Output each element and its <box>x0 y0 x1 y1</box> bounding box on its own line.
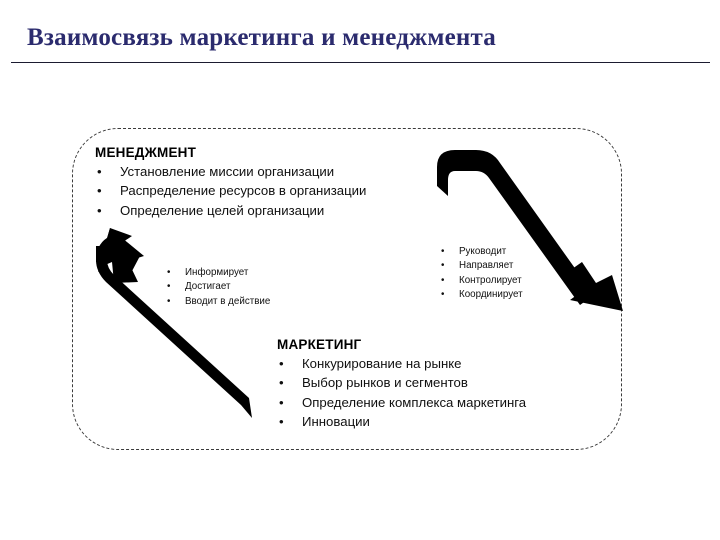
list-item: •Определение комплекса маркетинга <box>277 393 526 412</box>
list-item-label: Инновации <box>302 414 370 429</box>
bullet-icon: • <box>97 162 102 181</box>
marketing-bullet-list: •Конкурирование на рынке •Выбор рынков и… <box>277 354 526 432</box>
list-item: •Выбор рынков и сегментов <box>277 373 526 392</box>
list-item-label: Вводит в действие <box>185 296 270 307</box>
list-item: •Контролирует <box>440 274 523 288</box>
list-item-label: Достигает <box>185 281 230 292</box>
bullet-icon: • <box>97 201 102 220</box>
list-item: •Инновации <box>277 412 526 431</box>
downward-flow-block: •Руководит •Направляет •Контролирует •Ко… <box>440 245 523 302</box>
bullet-icon: • <box>441 288 444 302</box>
page-title: Взаимосвязь маркетинга и менеджмента <box>27 24 496 52</box>
management-block: МЕНЕДЖМЕНТ •Установление миссии организа… <box>95 145 366 220</box>
list-item-label: Конкурирование на рынке <box>302 356 462 371</box>
marketing-block: МАРКЕТИНГ •Конкурирование на рынке •Выбо… <box>277 337 526 432</box>
bullet-icon: • <box>279 393 284 412</box>
slide-canvas: Взаимосвязь маркетинга и менеджмента МЕН… <box>0 0 720 540</box>
list-item-label: Установление миссии организации <box>120 164 334 179</box>
upward-flow-block: •Информирует •Достигает •Вводит в действ… <box>166 266 270 309</box>
list-item-label: Определение комплекса маркетинга <box>302 395 526 410</box>
list-item-label: Информирует <box>185 267 248 278</box>
list-item-label: Координирует <box>459 289 523 300</box>
list-item: •Достигает <box>166 280 270 294</box>
list-item-label: Распределение ресурсов в организации <box>120 183 366 198</box>
list-item-label: Руководит <box>459 246 506 257</box>
management-bullet-list: •Установление миссии организации •Распре… <box>95 162 366 220</box>
list-item-label: Контролирует <box>459 275 522 286</box>
title-divider <box>11 62 710 63</box>
bullet-icon: • <box>167 266 170 280</box>
management-heading: МЕНЕДЖМЕНТ <box>95 145 366 160</box>
list-item: •Направляет <box>440 259 523 273</box>
bullet-icon: • <box>167 295 170 309</box>
upward-flow-list: •Информирует •Достигает •Вводит в действ… <box>166 266 270 309</box>
marketing-heading: МАРКЕТИНГ <box>277 337 526 352</box>
list-item: •Конкурирование на рынке <box>277 354 526 373</box>
list-item: •Определение целей организации <box>95 201 366 220</box>
bullet-icon: • <box>441 245 444 259</box>
list-item-label: Выбор рынков и сегментов <box>302 375 468 390</box>
list-item: •Информирует <box>166 266 270 280</box>
list-item: •Распределение ресурсов в организации <box>95 181 366 200</box>
list-item: •Установление миссии организации <box>95 162 366 181</box>
bullet-icon: • <box>441 274 444 288</box>
bullet-icon: • <box>279 354 284 373</box>
bullet-icon: • <box>441 259 444 273</box>
list-item-label: Направляет <box>459 260 513 271</box>
bullet-icon: • <box>97 181 102 200</box>
list-item: •Координирует <box>440 288 523 302</box>
list-item: •Руководит <box>440 245 523 259</box>
bullet-icon: • <box>167 280 170 294</box>
list-item-label: Определение целей организации <box>120 203 324 218</box>
bullet-icon: • <box>279 373 284 392</box>
downward-flow-list: •Руководит •Направляет •Контролирует •Ко… <box>440 245 523 302</box>
bullet-icon: • <box>279 412 284 431</box>
list-item: •Вводит в действие <box>166 295 270 309</box>
